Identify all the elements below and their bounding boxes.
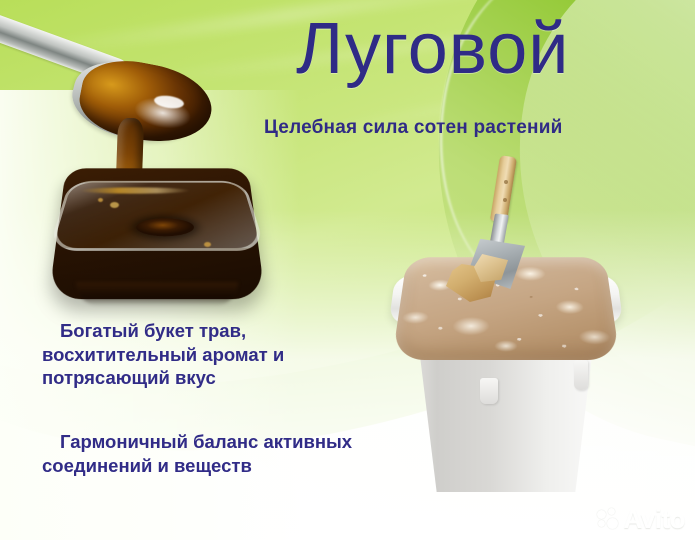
- spatula-rivet: [503, 198, 507, 202]
- bucket-lid-tab: [480, 378, 498, 404]
- poster-claim-balance: Гармоничный баланс активных соединений и…: [42, 430, 387, 477]
- dish-honey-sheen: [79, 187, 190, 193]
- poster-subtitle: Целебная сила сотен растений: [264, 117, 563, 139]
- bucket-lid-tab: [574, 360, 588, 390]
- honey-bubble: [98, 198, 103, 202]
- spatula-rivet: [504, 180, 508, 184]
- honey-bubble: [204, 242, 211, 247]
- dish-shadow: [76, 282, 238, 306]
- honey-bucket-image: [392, 236, 620, 498]
- glass-honey-dish: [58, 158, 256, 298]
- poster-claim-aroma: Богатый букет трав, восхитительный арома…: [42, 319, 342, 390]
- honey-product-poster: Луговой Целебная сила сотен растений Бог…: [0, 0, 695, 540]
- honey-on-spoon: [74, 52, 218, 152]
- page-title: Луговой: [296, 13, 569, 85]
- honey-bubble: [110, 202, 119, 208]
